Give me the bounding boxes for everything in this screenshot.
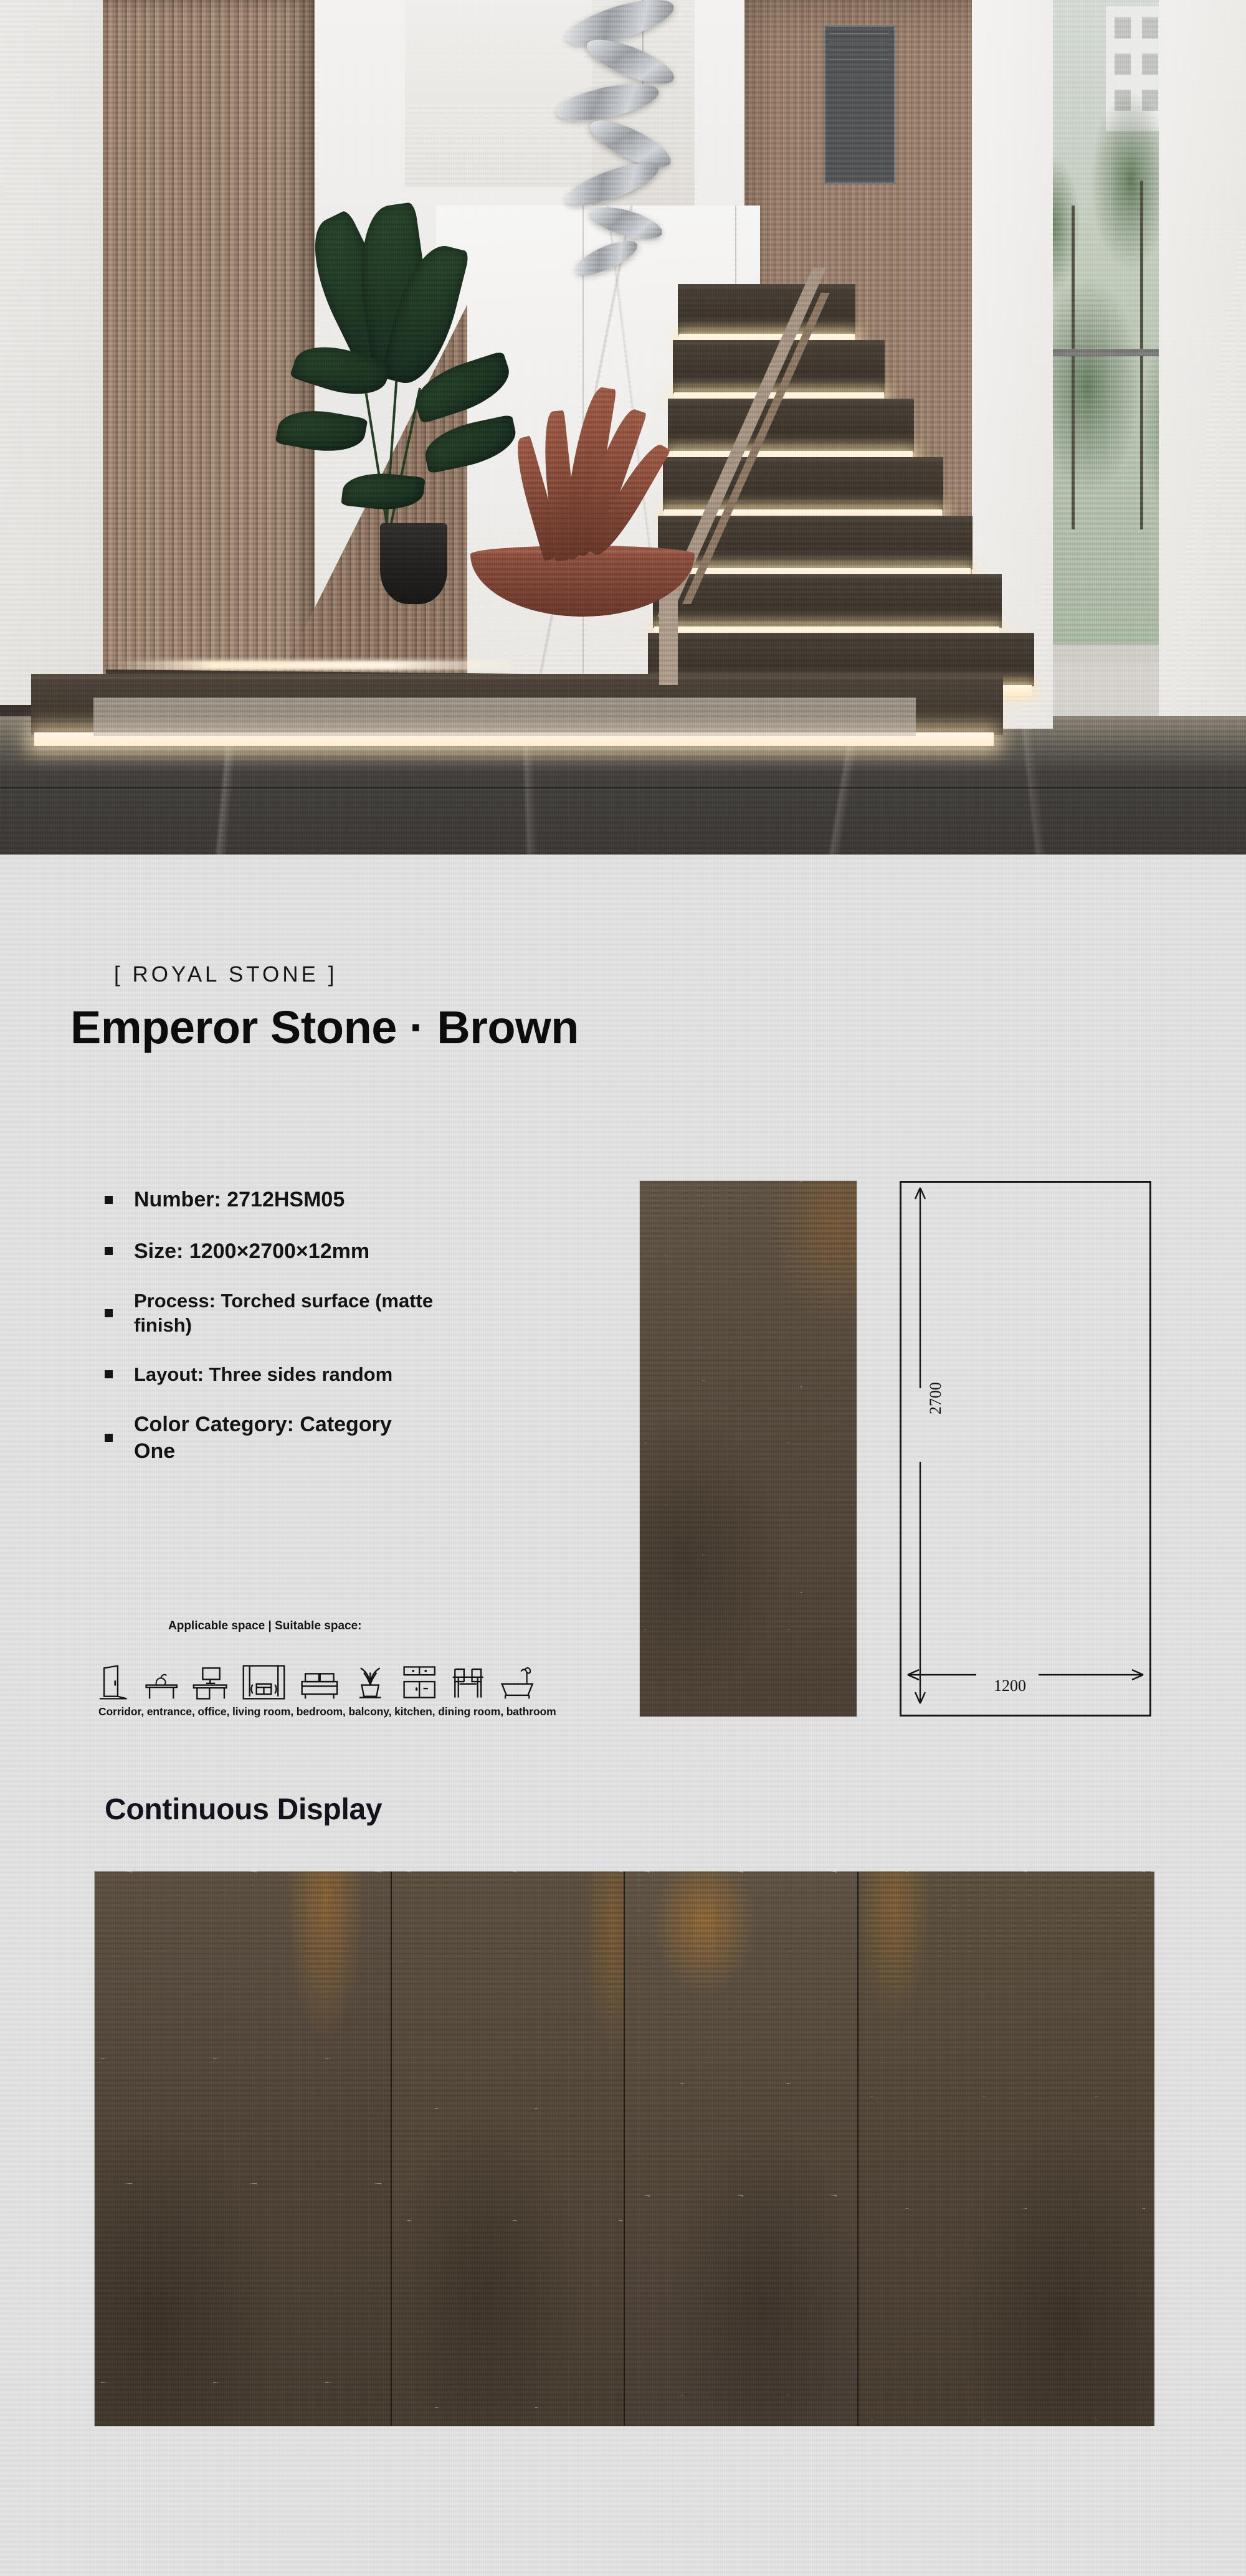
spec-label: Color Category: Category One — [134, 1411, 396, 1464]
spec-item-number: Number: 2712HSM05 — [105, 1186, 591, 1213]
slab-panel — [858, 1872, 1154, 2426]
product-swatch — [640, 1181, 857, 1717]
plant-pot — [380, 523, 447, 604]
bed-icon — [300, 1663, 340, 1702]
slab-panel — [625, 1872, 858, 2426]
entrance-console-icon — [144, 1663, 179, 1702]
spec-item-color-category: Color Category: Category One — [105, 1411, 591, 1464]
balcony-plant-icon — [353, 1663, 388, 1702]
page-title: Emperor Stone · Brown — [70, 1002, 581, 1054]
room-icon-row — [98, 1657, 535, 1702]
dimension-drawing: 2700 1200 — [900, 1181, 1151, 1717]
kitchen-cabinet-icon — [402, 1663, 437, 1702]
spec-item-layout: Layout: Three sides random — [105, 1363, 591, 1387]
applicable-space-heading: Applicable space | Suitable space: — [168, 1619, 362, 1633]
hero-image — [0, 0, 1246, 855]
continuous-display-panel — [95, 1872, 1151, 2426]
spec-item-size: Size: 1200×2700×12mm — [105, 1238, 591, 1265]
dimension-arrows — [901, 1183, 1149, 1715]
cove-light — [112, 660, 511, 670]
bullet-icon — [105, 1370, 113, 1378]
dimension-width-label: 1200 — [994, 1677, 1026, 1695]
continuous-display-title: Continuous Display — [105, 1792, 382, 1827]
spec-label: Number: 2712HSM05 — [134, 1186, 345, 1213]
rooms-caption: Corridor, entrance, office, living room,… — [98, 1705, 556, 1718]
office-desk-icon — [193, 1663, 227, 1702]
ribbon-chandelier — [526, 0, 713, 311]
slab-panel — [392, 1872, 625, 2426]
spec-label: Size: 1200×2700×12mm — [134, 1238, 369, 1265]
floor-tile-seam — [0, 787, 1246, 788]
bullet-icon — [105, 1309, 113, 1317]
right-wall — [1159, 0, 1246, 716]
spec-label: Layout: Three sides random — [134, 1363, 392, 1387]
brand-kicker: [ ROYAL STONE ] — [114, 962, 337, 987]
spec-list: Number: 2712HSM05 Size: 1200×2700×12mm P… — [105, 1186, 591, 1489]
dark-window-icon — [824, 25, 896, 184]
slab-panel — [95, 1872, 392, 2426]
bathtub-icon — [500, 1663, 535, 1702]
spec-item-process: Process: Torched surface (matte finish) — [105, 1289, 591, 1338]
stair-step — [668, 407, 914, 452]
spec-label: Process: Torched surface (matte finish) — [134, 1289, 458, 1338]
dimension-height-label: 2700 — [926, 1382, 945, 1414]
living-room-sofa-icon — [242, 1663, 286, 1702]
stair-step — [663, 466, 943, 511]
bullet-icon — [105, 1196, 113, 1204]
platform-marble-band — [93, 698, 916, 736]
bullet-icon — [105, 1434, 113, 1442]
stair-step — [653, 583, 1002, 628]
bullet-icon — [105, 1247, 113, 1255]
dining-table-icon — [450, 1663, 485, 1702]
left-wall — [0, 0, 118, 722]
door-icon — [98, 1663, 130, 1702]
potted-plant — [268, 206, 542, 554]
